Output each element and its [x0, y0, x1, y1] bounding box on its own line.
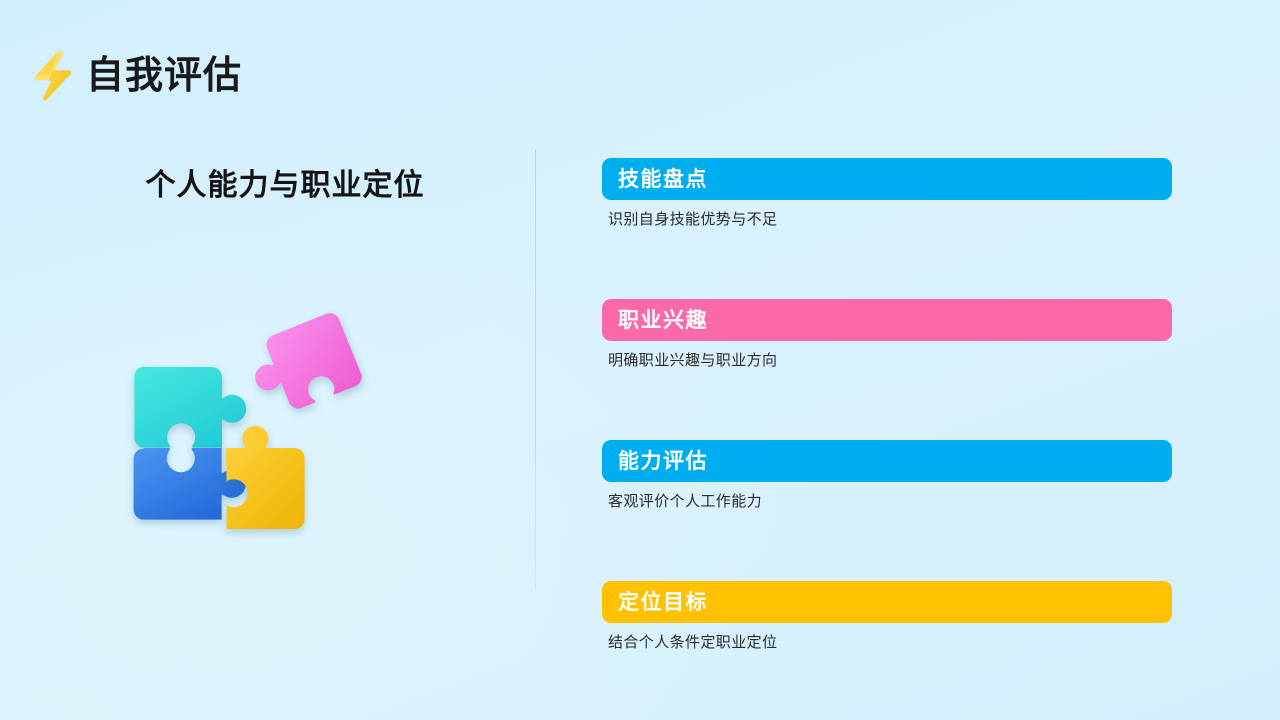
item-bar-4[interactable]: 定位目标: [602, 581, 1172, 623]
slide-header: 自我评估: [30, 48, 242, 104]
vertical-divider: [535, 150, 536, 590]
list-item: 定位目标 结合个人条件定职业定位: [602, 581, 1172, 652]
item-label: 定位目标: [618, 592, 708, 613]
item-label: 职业兴趣: [618, 310, 708, 331]
page-title: 自我评估: [86, 57, 242, 95]
slide-canvas: 自我评估 个人能力与职业定位: [0, 0, 1280, 720]
item-bar-2[interactable]: 职业兴趣: [602, 299, 1172, 341]
list-item: 职业兴趣 明确职业兴趣与职业方向: [602, 299, 1172, 370]
item-description: 识别自身技能优势与不足: [602, 211, 1172, 229]
list-item: 技能盘点 识别自身技能优势与不足: [602, 158, 1172, 229]
lightning-bolt-icon: [30, 48, 76, 104]
item-bar-3[interactable]: 能力评估: [602, 440, 1172, 482]
item-description: 明确职业兴趣与职业方向: [602, 352, 1172, 370]
pink-puzzle-piece: [242, 310, 364, 420]
item-label: 技能盘点: [618, 169, 708, 190]
teal-puzzle-piece: [134, 367, 246, 448]
section-subtitle: 个人能力与职业定位: [60, 160, 510, 204]
items-list: 技能盘点 识别自身技能优势与不足 职业兴趣 明确职业兴趣与职业方向 能力评估 客…: [602, 158, 1172, 652]
left-panel: 个人能力与职业定位: [60, 150, 510, 590]
item-label: 能力评估: [618, 451, 708, 472]
item-bar-1[interactable]: 技能盘点: [602, 158, 1172, 200]
list-item: 能力评估 客观评价个人工作能力: [602, 440, 1172, 511]
item-description: 结合个人条件定职业定位: [602, 634, 1172, 652]
puzzle-pieces-illustration: [122, 305, 382, 555]
yellow-puzzle-piece: [225, 426, 305, 529]
item-description: 客观评价个人工作能力: [602, 493, 1172, 511]
